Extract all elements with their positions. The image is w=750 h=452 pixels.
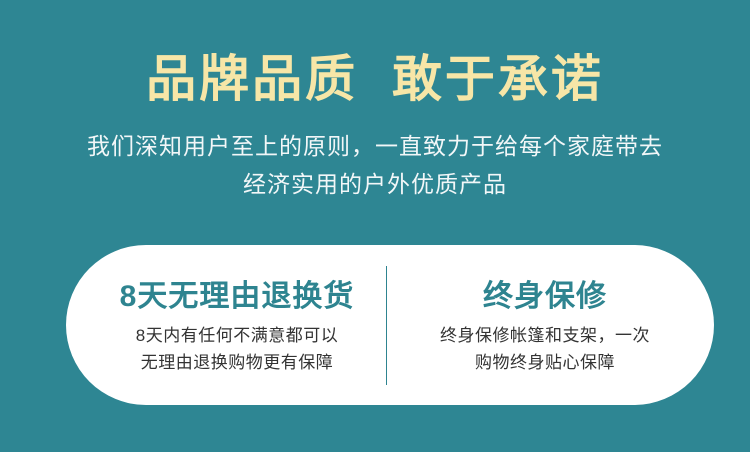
card-column-divider: [386, 266, 387, 385]
returns-description-line-2: 无理由退换购物更有保障: [136, 349, 338, 376]
guarantee-column-returns: 8天无理由退换货 8天内有任何不满意都可以 无理由退换购物更有保障: [66, 245, 390, 405]
warranty-description-line-1: 终身保修帐篷和支架，一次: [440, 322, 650, 349]
warranty-heading: 终身保修: [483, 278, 607, 316]
banner-subtitle-line-2: 经济实用的户外优质产品: [0, 165, 750, 203]
warranty-description-line-2: 购物终身贴心保障: [440, 349, 650, 376]
guarantee-column-warranty: 终身保修 终身保修帐篷和支架，一次 购物终身贴心保障: [390, 245, 714, 405]
banner-headline: 品牌品质 敢于承诺: [0, 50, 750, 108]
banner-subtitle: 我们深知用户至上的原则，一直致力于给每个家庭带去 经济实用的户外优质产品: [0, 127, 750, 203]
banner-subtitle-line-1: 我们深知用户至上的原则，一直致力于给每个家庭带去: [0, 127, 750, 165]
warranty-description: 终身保修帐篷和支架，一次 购物终身贴心保障: [440, 322, 650, 376]
guarantee-card: 8天无理由退换货 8天内有任何不满意都可以 无理由退换购物更有保障 终身保修 终…: [66, 245, 714, 405]
returns-description-line-1: 8天内有任何不满意都可以: [136, 322, 338, 349]
promotional-banner: 品牌品质 敢于承诺 我们深知用户至上的原则，一直致力于给每个家庭带去 经济实用的…: [0, 0, 750, 452]
returns-description: 8天内有任何不满意都可以 无理由退换购物更有保障: [136, 322, 338, 376]
returns-heading: 8天无理由退换货: [120, 278, 355, 316]
